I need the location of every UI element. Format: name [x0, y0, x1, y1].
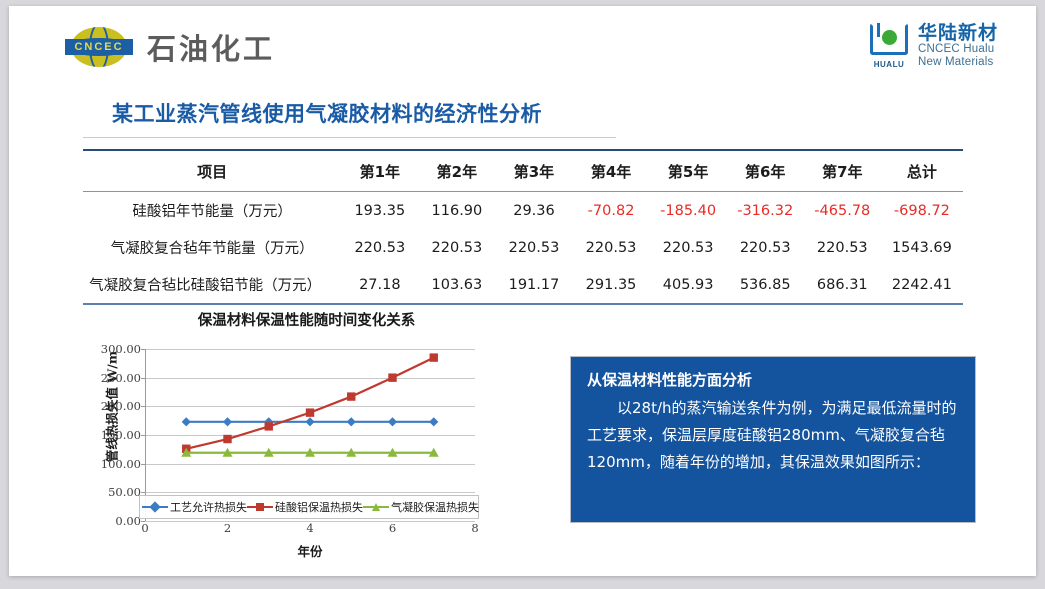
table-cell-value: 405.93 — [650, 266, 727, 304]
hualu-logo: HUALU 华陆新材 CNCEC Hualu New Materials — [867, 23, 998, 69]
insulation-performance-chart: 保温材料保温性能随时间变化关系 管线热损失值 W/m 0.0050.00100.… — [79, 309, 534, 559]
chart-x-tick-label: 6 — [389, 521, 396, 535]
table-cell-value: -465.78 — [804, 192, 881, 230]
chart-x-tick-label: 0 — [141, 521, 148, 535]
column-header-year-5: 第5年 — [650, 150, 727, 192]
callout-title: 从保温材料性能方面分析 — [587, 369, 959, 390]
chart-y-tick-label: 150.00 — [101, 428, 141, 442]
chart-legend-marker-icon — [363, 502, 389, 512]
chart-data-point — [388, 417, 397, 426]
cncec-mark-text: CNCEC — [65, 39, 133, 55]
table-cell-value: 29.36 — [495, 192, 572, 230]
table-cell-value: 116.90 — [418, 192, 495, 230]
chart-y-axis-ticks: 0.0050.00100.00150.00200.00250.00300.00 — [79, 345, 141, 525]
chart-data-point — [347, 417, 356, 426]
hualu-company-cn: 华陆新材 — [918, 23, 998, 43]
slide-canvas: CNCEC 石油化工 HUALU 华陆新材 CNCEC Hualu New Ma… — [0, 0, 1045, 589]
table-cell-value: -70.82 — [573, 192, 650, 230]
chart-x-axis-label: 年份 — [145, 541, 475, 560]
column-header-year-7: 第7年 — [804, 150, 881, 192]
economics-table-wrapper: 项目 第1年 第2年 第3年 第4年 第5年 第6年 第7年 总计 硅酸铝年节能… — [83, 149, 963, 305]
table-cell-value: 193.35 — [341, 192, 418, 230]
table-cell-value: 220.53 — [341, 229, 418, 266]
hualu-company-en-2: New Materials — [918, 56, 998, 69]
table-header: 项目 第1年 第2年 第3年 第4年 第5年 第6年 第7年 总计 — [83, 150, 963, 192]
economics-table: 项目 第1年 第2年 第3年 第4年 第5年 第6年 第7年 总计 硅酸铝年节能… — [83, 149, 963, 305]
table-cell-value: 220.53 — [573, 229, 650, 266]
table-cell-value: -316.32 — [727, 192, 804, 230]
table-cell-value: 291.35 — [573, 266, 650, 304]
chart-y-tick-label: 0.00 — [115, 514, 141, 528]
table-header-row: 项目 第1年 第2年 第3年 第4年 第5年 第6年 第7年 总计 — [83, 150, 963, 192]
chart-y-tick-label: 250.00 — [101, 371, 141, 385]
chart-data-point — [265, 422, 273, 430]
table-cell-value: 220.53 — [495, 229, 572, 266]
table-cell-item: 气凝胶复合毡年节能量（万元） — [83, 229, 341, 266]
column-header-year-3: 第3年 — [495, 150, 572, 192]
table-row: 硅酸铝年节能量（万元）193.35116.9029.36-70.82-185.4… — [83, 192, 963, 230]
cncec-logo: CNCEC 石油化工 — [65, 26, 275, 68]
chart-legend-marker-icon — [142, 502, 168, 512]
table-cell-value: 220.53 — [804, 229, 881, 266]
chart-x-tick-label: 8 — [471, 521, 478, 535]
chart-data-point — [388, 373, 396, 381]
column-header-year-2: 第2年 — [418, 150, 495, 192]
chart-legend-label: 工艺允许热损失 — [170, 499, 247, 515]
table-row: 气凝胶复合毡比硅酸铝节能（万元）27.18103.63191.17291.354… — [83, 266, 963, 304]
slide-page: CNCEC 石油化工 HUALU 华陆新材 CNCEC Hualu New Ma… — [9, 6, 1036, 576]
chart-data-point — [306, 408, 314, 416]
chart-data-point — [430, 353, 438, 361]
chart-data-point — [305, 417, 314, 426]
title-divider — [83, 137, 616, 138]
chart-legend-item[interactable]: 工艺允许热损失 — [142, 499, 247, 515]
analysis-callout: 从保温材料性能方面分析 以28t/h的蒸汽输送条件为例，为满足最低流量时的工艺要… — [570, 356, 976, 523]
hualu-company-en-1: CNCEC Hualu — [918, 43, 998, 56]
table-cell-value: 27.18 — [341, 266, 418, 304]
column-header-year-4: 第4年 — [573, 150, 650, 192]
chart-data-point — [223, 435, 231, 443]
table-cell-value: 220.53 — [650, 229, 727, 266]
chart-data-point — [223, 417, 232, 426]
hualu-wordmark: 华陆新材 CNCEC Hualu New Materials — [918, 23, 998, 69]
chart-legend-marker-icon — [247, 502, 273, 512]
chart-y-tick-label: 50.00 — [108, 485, 141, 499]
table-cell-value: 220.53 — [418, 229, 495, 266]
table-cell-total: -698.72 — [881, 192, 963, 230]
column-header-item: 项目 — [83, 150, 341, 192]
chart-data-point — [429, 417, 438, 426]
hualu-mark-icon: HUALU — [867, 23, 911, 69]
chart-data-point — [347, 392, 355, 400]
table-row: 气凝胶复合毡年节能量（万元）220.53220.53220.53220.5322… — [83, 229, 963, 266]
chart-x-tick-label: 4 — [306, 521, 313, 535]
page-title: 某工业蒸汽管线使用气凝胶材料的经济性分析 — [112, 98, 542, 128]
callout-body: 以28t/h的蒸汽输送条件为例，为满足最低流量时的工艺要求，保温层厚度硅酸铝28… — [587, 395, 959, 476]
chart-legend-label: 硅酸铝保温热损失 — [275, 499, 363, 515]
table-cell-value: -185.40 — [650, 192, 727, 230]
chart-y-tick-label: 200.00 — [101, 399, 141, 413]
chart-legend-label: 气凝胶保温热损失 — [391, 499, 479, 515]
table-cell-value: 103.63 — [418, 266, 495, 304]
column-header-year-1: 第1年 — [341, 150, 418, 192]
chart-title: 保温材料保温性能随时间变化关系 — [79, 309, 534, 330]
chart-legend-item[interactable]: 气凝胶保温热损失 — [363, 499, 479, 515]
table-cell-value: 191.17 — [495, 266, 572, 304]
chart-data-point — [182, 417, 191, 426]
table-body: 硅酸铝年节能量（万元）193.35116.9029.36-70.82-185.4… — [83, 192, 963, 305]
column-header-total: 总计 — [881, 150, 963, 192]
chart-y-tick-label: 300.00 — [101, 342, 141, 356]
table-cell-item: 气凝胶复合毡比硅酸铝节能（万元） — [83, 266, 341, 304]
chart-legend: 工艺允许热损失硅酸铝保温热损失气凝胶保温热损失 — [139, 495, 479, 519]
table-cell-total: 1543.69 — [881, 229, 963, 266]
chart-legend-item[interactable]: 硅酸铝保温热损失 — [247, 499, 363, 515]
hualu-mark-subtext: HUALU — [867, 60, 911, 69]
column-header-year-6: 第6年 — [727, 150, 804, 192]
table-cell-value: 220.53 — [727, 229, 804, 266]
cncec-globe-icon: CNCEC — [65, 26, 133, 68]
chart-y-tick-label: 100.00 — [101, 457, 141, 471]
table-cell-total: 2242.41 — [881, 266, 963, 304]
table-cell-item: 硅酸铝年节能量（万元） — [83, 192, 341, 230]
table-cell-value: 536.85 — [727, 266, 804, 304]
table-cell-value: 686.31 — [804, 266, 881, 304]
chart-x-tick-label: 2 — [224, 521, 231, 535]
chart-x-axis-ticks: 02468 — [145, 521, 475, 539]
cncec-company-name: 石油化工 — [147, 26, 275, 68]
